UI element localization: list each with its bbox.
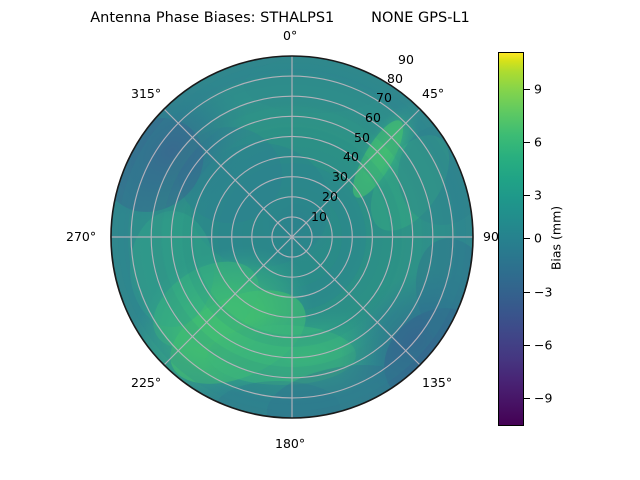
colorbar-tick-9 [524,89,530,90]
colorbar-tick-6 [524,142,530,143]
radial-tick-80: 80 [387,73,403,86]
angular-tick-0: 0° [283,30,297,43]
colorbar-label-9: 9 [534,82,542,97]
radial-tick-40: 40 [343,151,359,164]
angular-tick-225: 225° [131,377,161,390]
radial-tick-50: 50 [354,132,370,145]
radial-tick-30: 30 [332,171,348,184]
colorbar[interactable]: 9 6 3 0 −3 −6 −9 [498,52,524,426]
colorbar-tick-neg6 [524,345,530,346]
colorbar-tick-neg9 [524,398,530,399]
polar-plot-svg [110,55,474,419]
angular-tick-270: 270° [66,231,96,244]
colorbar-tick-0 [524,238,530,239]
colorbar-tick-3 [524,195,530,196]
colorbar-axis-label: Bias (mm) [549,206,564,270]
angular-tick-135: 135° [422,377,452,390]
chart-title: Antenna Phase Biases: STHALPS1 NONE GPS-… [0,10,560,26]
colorbar-label-neg6: −6 [534,338,552,353]
figure-canvas: Antenna Phase Biases: STHALPS1 NONE GPS-… [0,0,640,480]
colorbar-gradient [498,52,524,426]
polar-axes[interactable]: 10 20 30 40 50 60 70 80 90 [110,55,474,419]
radial-tick-90: 90 [398,54,414,67]
radial-tick-20: 20 [322,191,338,204]
colorbar-label-0: 0 [534,231,542,246]
radial-tick-60: 60 [365,112,381,125]
colorbar-label-neg9: −9 [534,391,552,406]
colorbar-tick-neg3 [524,292,530,293]
colorbar-label-3: 3 [534,188,542,203]
angular-tick-315: 315° [131,88,161,101]
polar-grid [111,56,473,418]
angular-tick-180: 180° [275,438,305,451]
radial-tick-10: 10 [311,211,327,224]
colorbar-label-neg3: −3 [534,285,552,300]
colorbar-label-6: 6 [534,135,542,150]
angular-tick-45: 45° [422,88,444,101]
radial-tick-70: 70 [376,92,392,105]
